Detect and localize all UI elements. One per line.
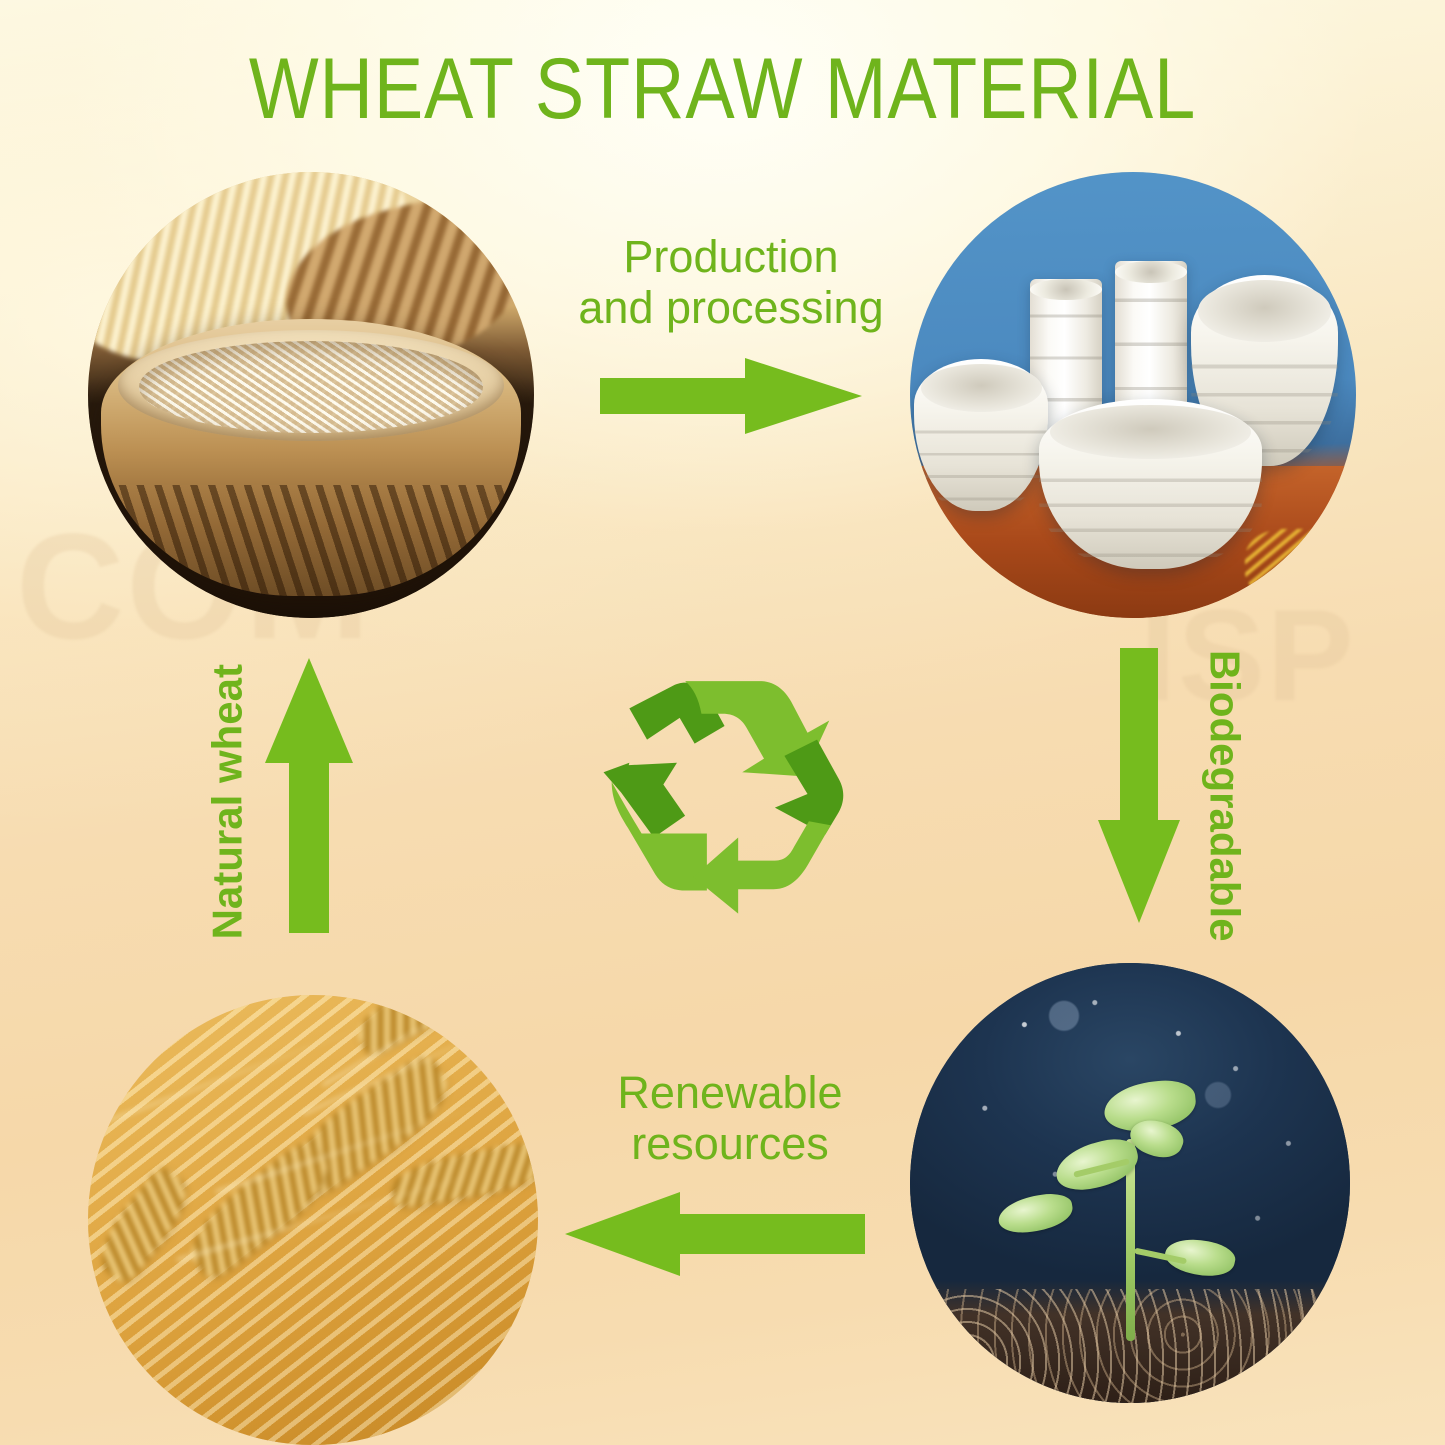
photo-wheat-grain-bowl <box>88 172 534 618</box>
label-production-and-processing: Production and processing <box>540 232 922 334</box>
recycle-icon <box>594 658 866 930</box>
bamboo-bowl <box>101 319 520 596</box>
label-natural-wheat: Natural wheat <box>203 637 250 967</box>
photo-seedling-sprout <box>910 963 1350 1403</box>
wheat-accent <box>1245 529 1343 600</box>
arrow-down <box>1098 648 1180 923</box>
grain-seeds <box>139 341 483 432</box>
field-blur-layer <box>88 995 538 1445</box>
arrow-left <box>565 1192 865 1276</box>
arrow-up <box>265 658 353 933</box>
wheat-ear-right <box>388 1138 538 1210</box>
arrow-right <box>600 358 862 434</box>
bowl-weave-pattern <box>101 485 520 596</box>
photo-wheat-field <box>88 995 538 1445</box>
wheat-straw-material-poster: COM ISP WHEAT STRAW MATERIAL <box>0 0 1445 1445</box>
photo-wheat-straw-tableware <box>910 172 1356 618</box>
page-title: WHEAT STRAW MATERIAL <box>101 44 1344 134</box>
label-biodegradable: Biodegradable <box>1201 631 1248 961</box>
bowl-stack-left <box>914 359 1048 511</box>
plate-stack-front <box>1039 399 1262 568</box>
wheat-ear-third <box>88 1164 198 1286</box>
label-renewable-resources: Renewable resources <box>560 1068 900 1170</box>
